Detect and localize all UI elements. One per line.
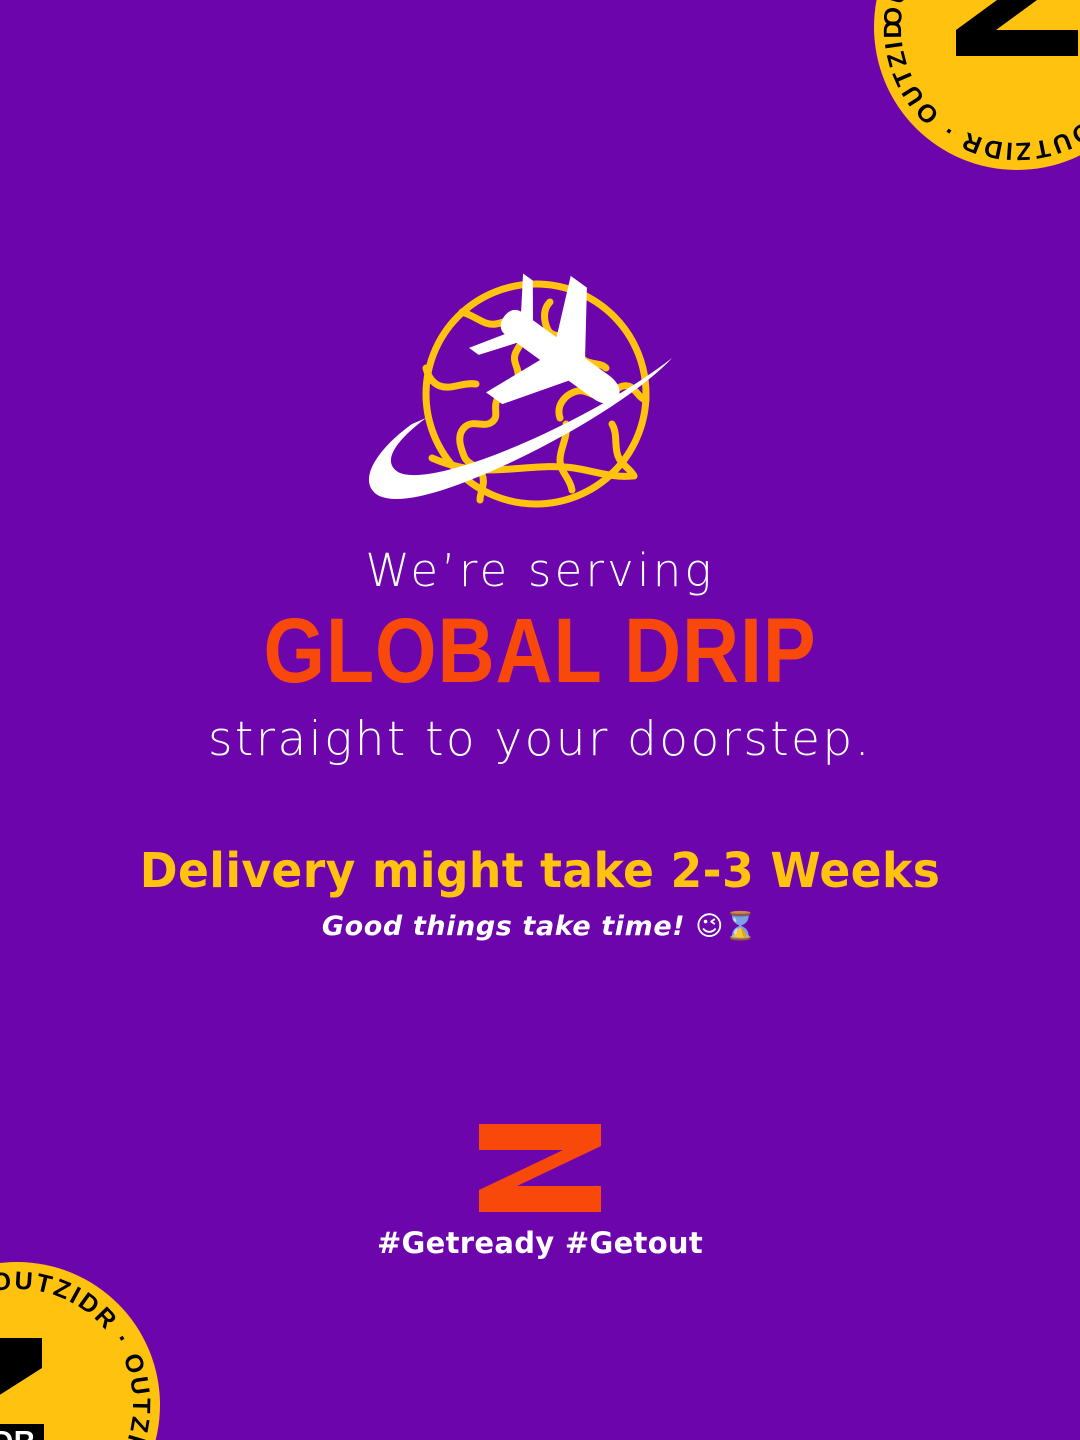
reassurance-text: Good things take time! — [322, 911, 685, 942]
poster-footer: #Getready #Getout — [0, 1124, 1080, 1260]
headline-text: GLOBAL DRIP — [76, 605, 1005, 699]
svg-text:OUTZIDR: OUTZIDR — [0, 1426, 35, 1440]
brand-badge-bottom-left: OUTZIDR · OUTZIDR · OUTZIDR · OUTZIDR · … — [0, 1260, 162, 1440]
wink-hourglass-emoji: 😉⌛ — [695, 911, 758, 942]
delivery-notice-text: Delivery might take 2-3 Weeks — [27, 845, 1053, 898]
z-logo — [479, 1124, 601, 1212]
reassurance-line: Good things take time! 😉⌛ — [0, 911, 1080, 943]
poster-copy-block: We’re serving GLOBAL DRIP straight to yo… — [0, 545, 1080, 944]
hashtags-text: #Getready #Getout — [0, 1226, 1080, 1260]
brand-badge-top-right: OUTZIDR · OUTZIDR · OUTZIDR · OUTZIDR · … — [872, 0, 1080, 172]
subheadline-text: straight to your doorstep. — [0, 713, 1080, 767]
badge-wordmark: OUTZIDR — [0, 1424, 44, 1440]
eyebrow-text: We’re serving — [0, 545, 1080, 597]
promotional-poster: OUTZIDR · OUTZIDR · OUTZIDR · OUTZIDR · … — [0, 0, 1080, 1440]
globe-airplane-illustration — [354, 272, 726, 524]
